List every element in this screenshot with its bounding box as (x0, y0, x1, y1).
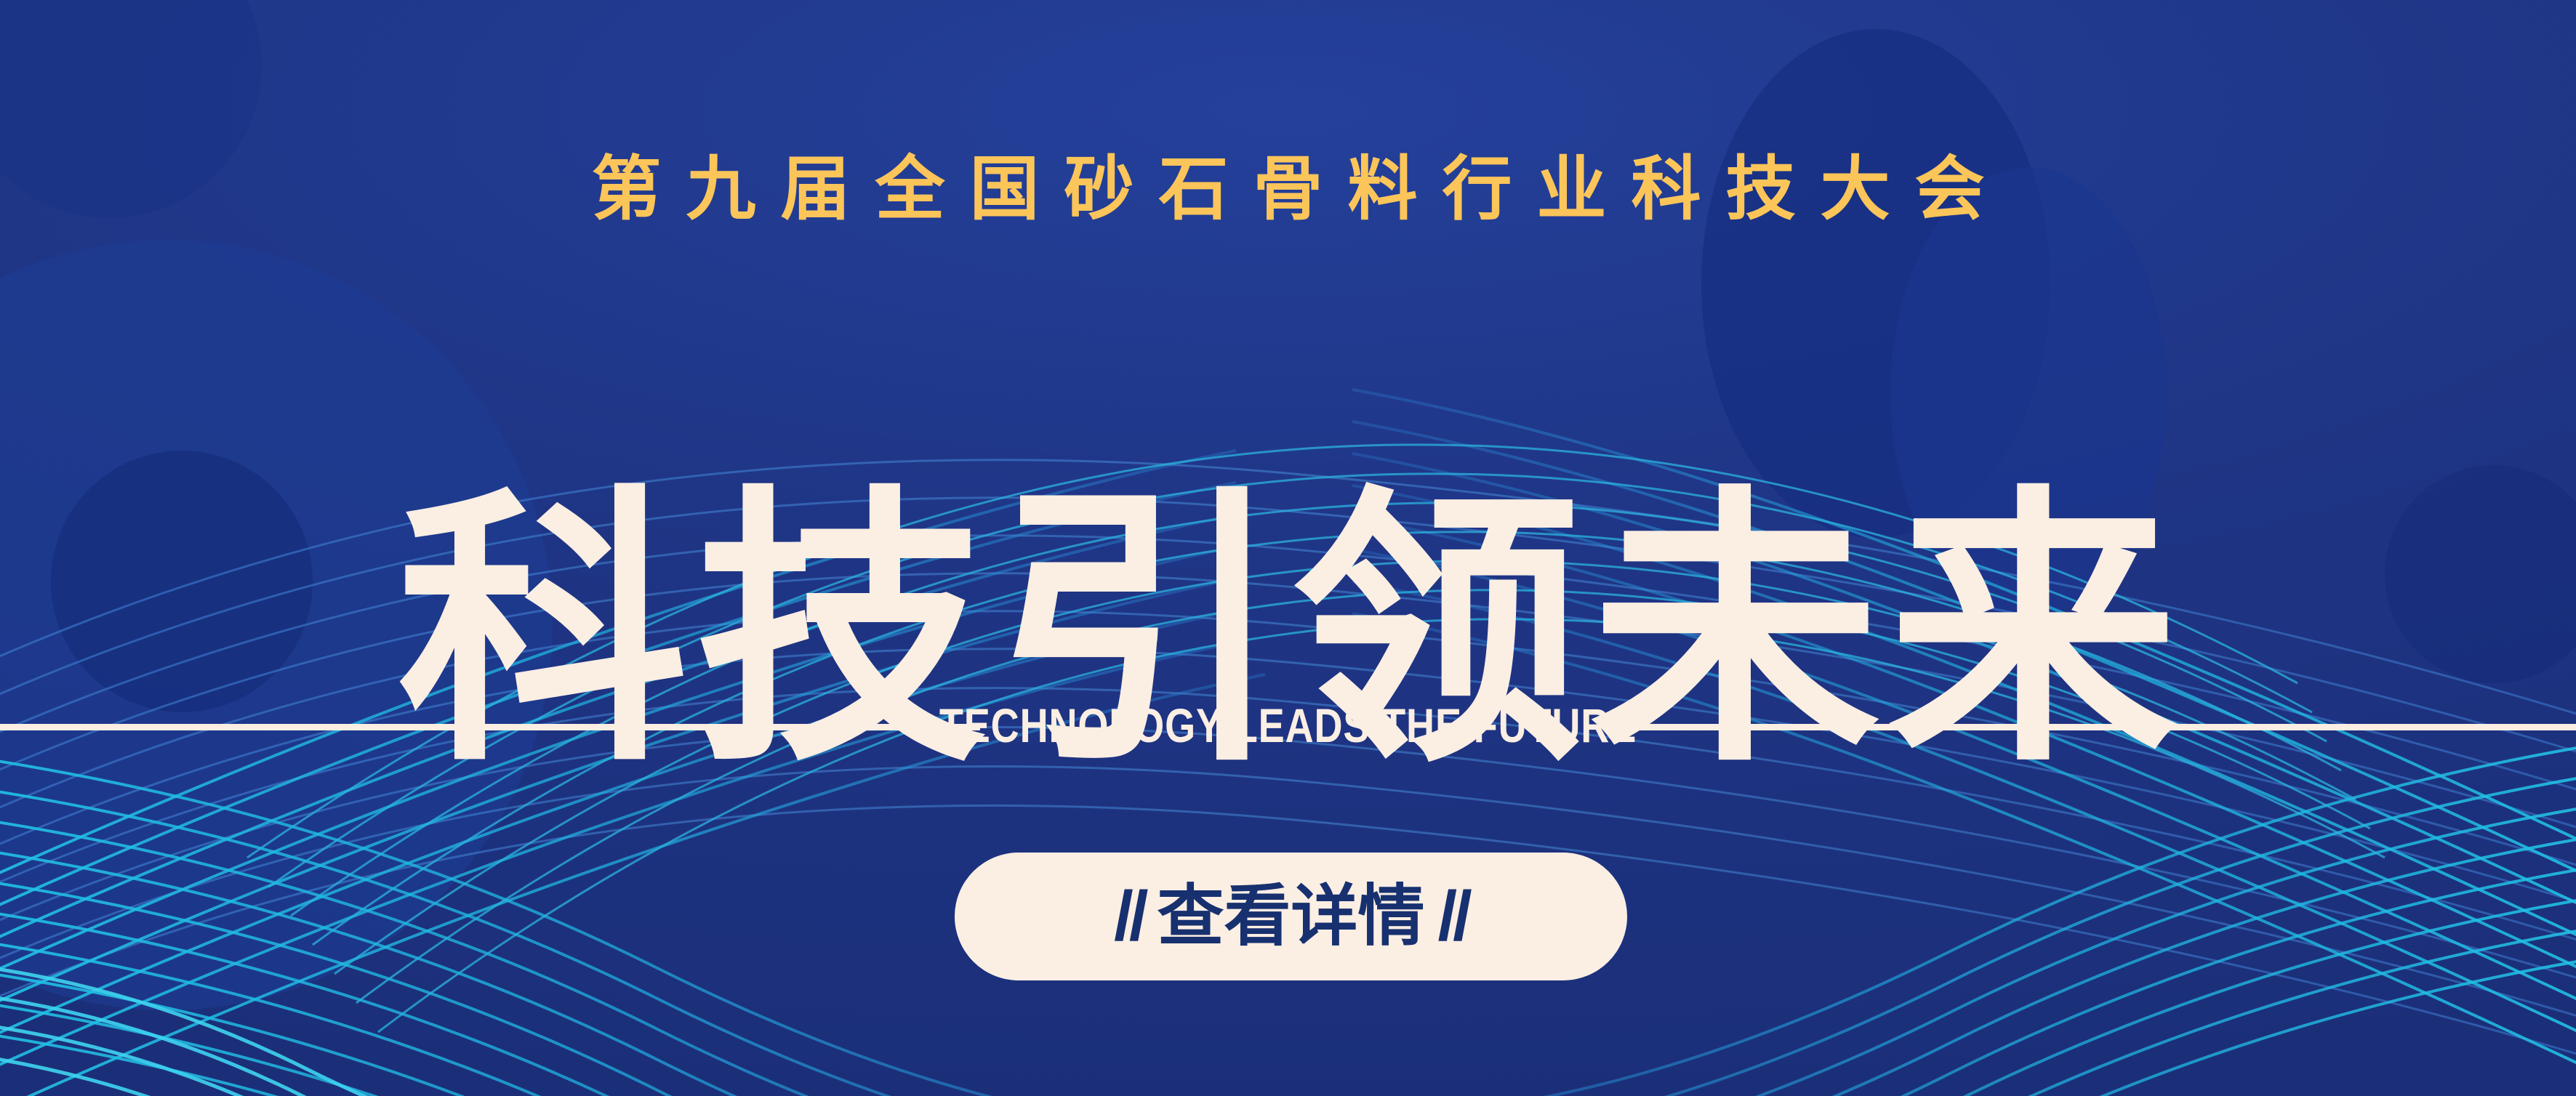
slash-left-icon: // (1114, 882, 1144, 951)
event-name-kicker: 第九届全国砂石骨料行业科技大会 (0, 151, 2576, 228)
english-subtitle: TECHNOLOGY LEADS THE FUTURE (232, 701, 2344, 749)
slash-right-icon: // (1438, 882, 1468, 951)
cta-label: 查看详情 (1157, 883, 1424, 950)
event-banner: 第九届全国砂石骨料行业科技大会 科技引领未来 TECHNOLOGY LEADS … (0, 0, 2576, 1096)
view-details-button[interactable]: // 查看详情 // (955, 853, 1627, 980)
cta-label-group: // 查看详情 // (1114, 882, 1468, 951)
